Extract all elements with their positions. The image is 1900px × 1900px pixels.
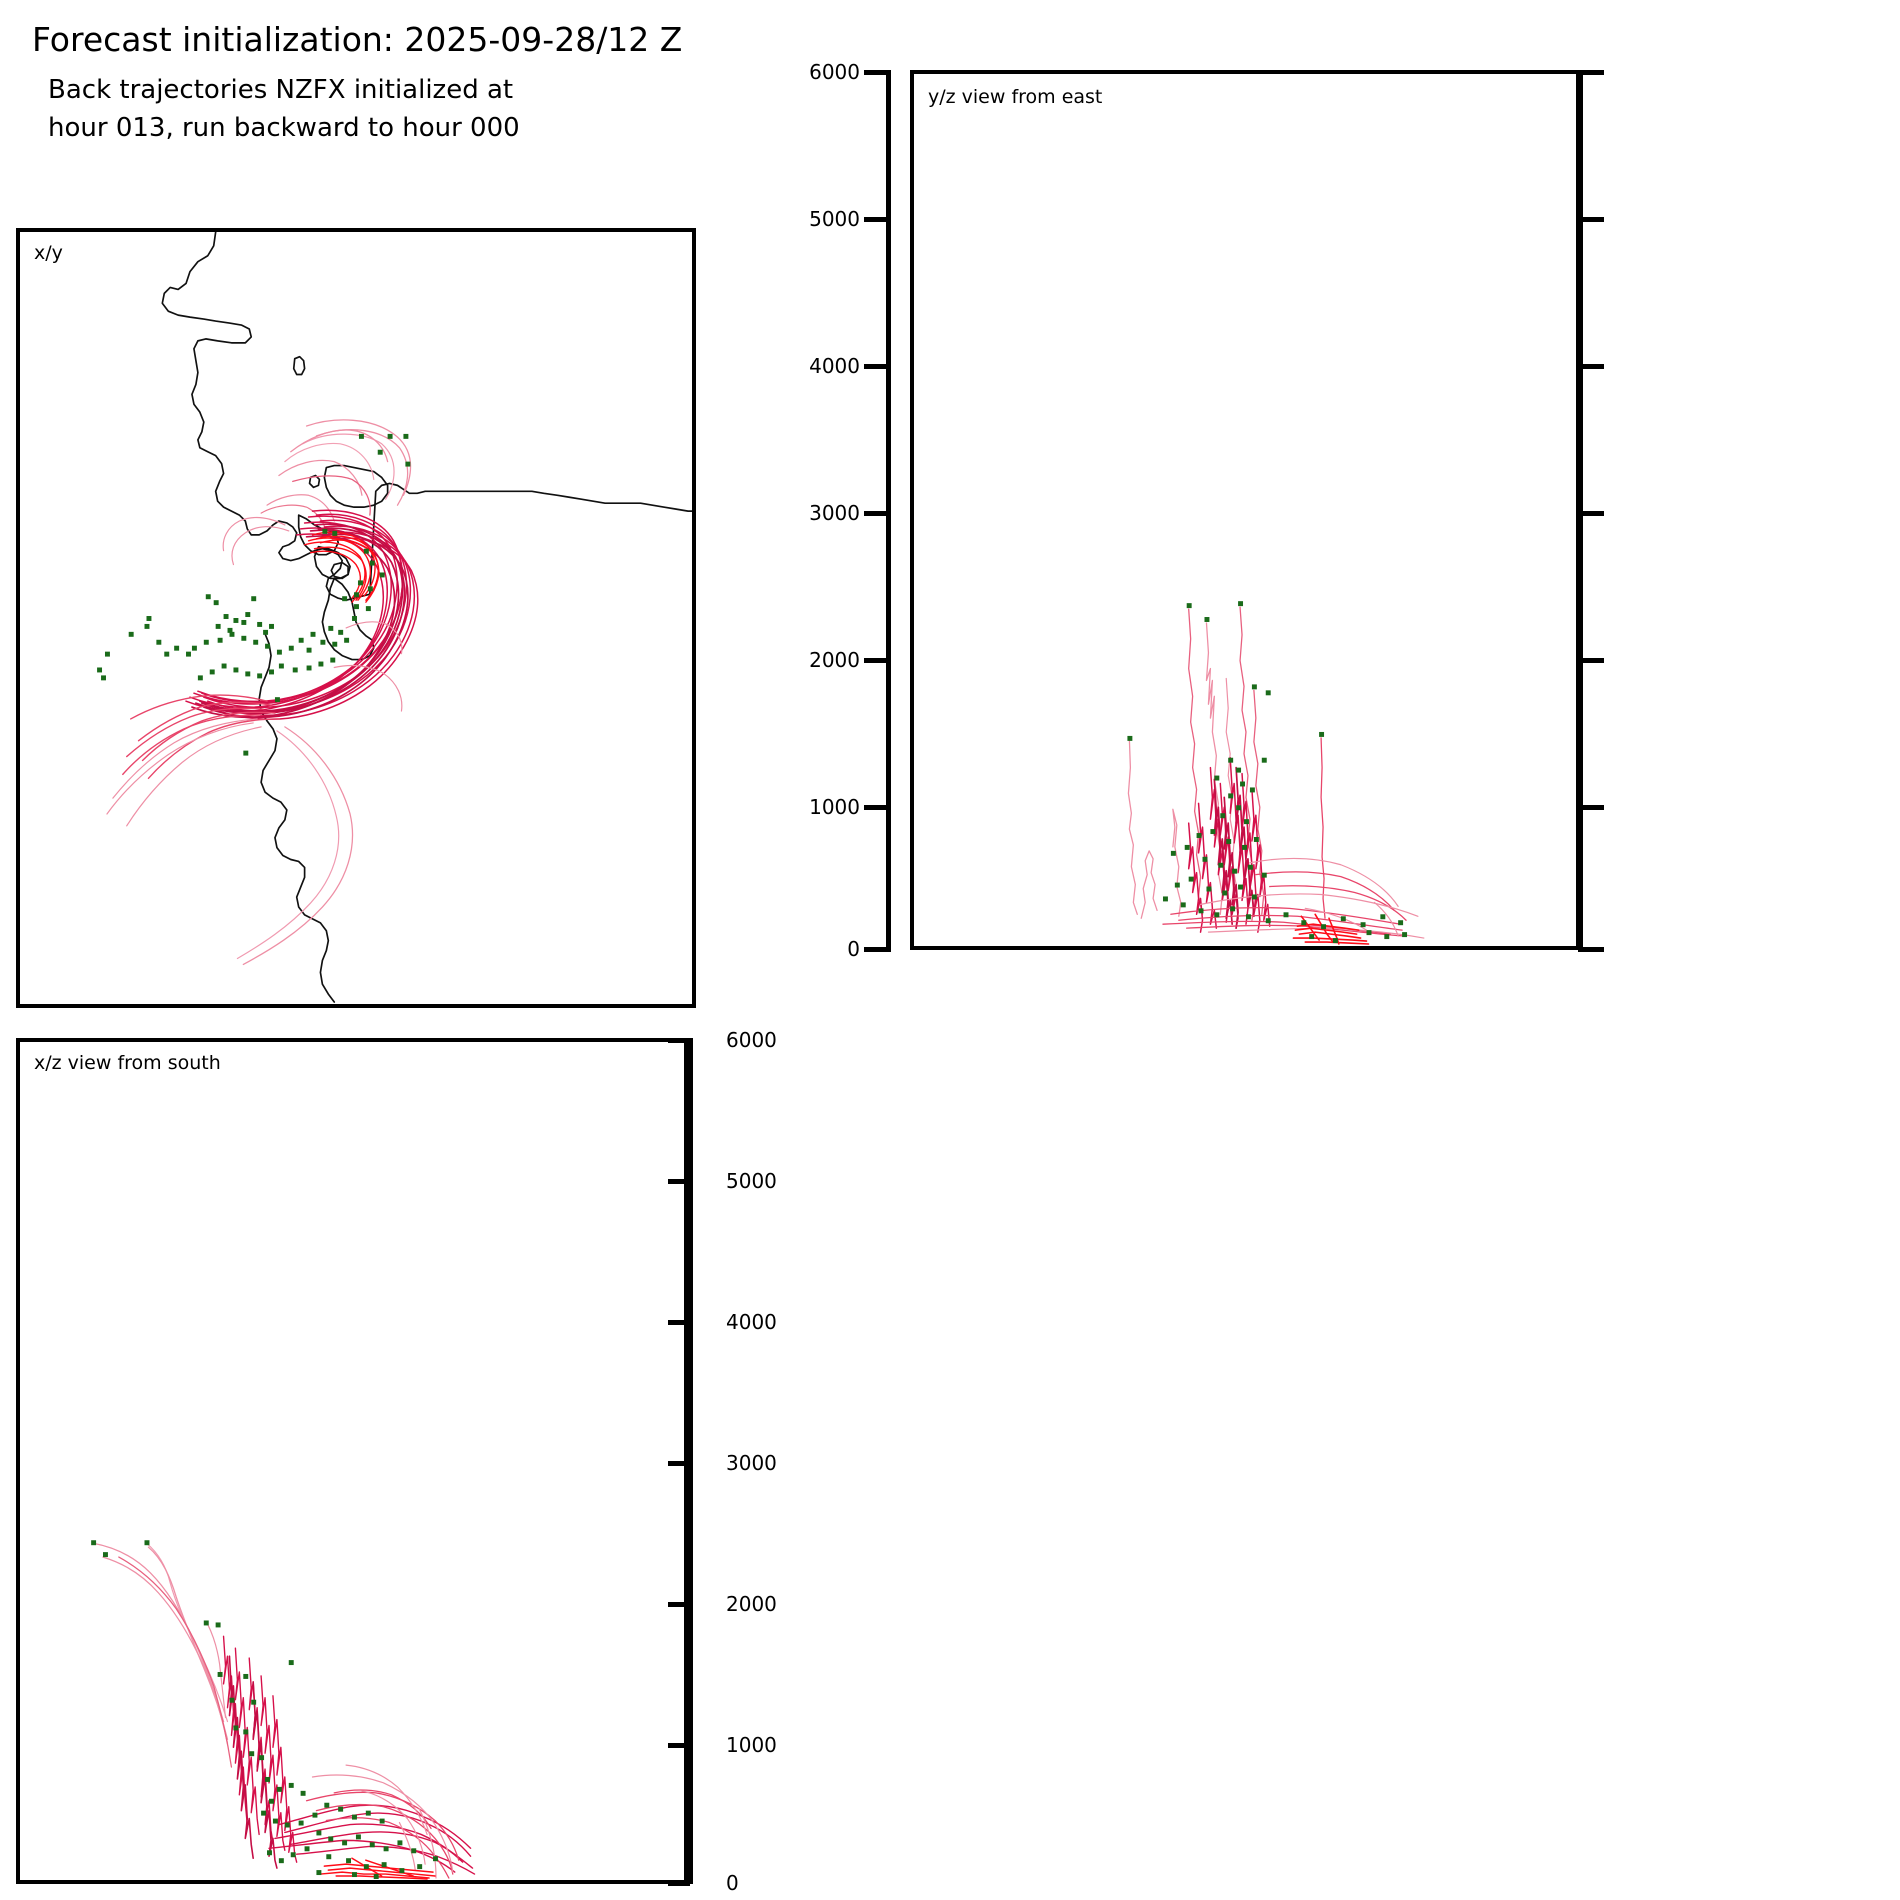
- xz-tick-5000: [668, 1179, 690, 1184]
- coastline-group: [162, 232, 692, 1002]
- yz-tick-4000: [864, 364, 886, 369]
- panel-xy: x/y: [16, 228, 696, 1008]
- xz-endpoint-markers: [91, 1540, 438, 1879]
- panel-yz: y/z view from east: [910, 70, 1580, 950]
- yz-right-tick-0: [1582, 947, 1604, 952]
- coastline-islet-mid: [331, 563, 348, 579]
- yz-tick-label-0: 0: [847, 937, 860, 961]
- xy-plot-svg: [20, 232, 692, 1004]
- xz-tick-label-4000: 4000: [726, 1310, 777, 1334]
- yz-tick-5000: [864, 217, 886, 222]
- xz-tick-label-3000: 3000: [726, 1451, 777, 1475]
- yz-right-tick-6000: [1582, 70, 1604, 75]
- yz-trajectory-group: [1128, 607, 1423, 944]
- yz-tick-1000: [864, 805, 886, 810]
- coastline-peninsula-north: [324, 466, 387, 508]
- yz-tick-label-4000: 4000: [809, 354, 860, 378]
- xz-tick-4000: [668, 1320, 690, 1325]
- yz-tick-label-2000: 2000: [809, 648, 860, 672]
- panel-label-xy: x/y: [34, 242, 63, 264]
- yz-tick-2000: [864, 658, 886, 663]
- xz-tick-label-6000: 6000: [726, 1028, 777, 1052]
- figure-canvas: Forecast initialization: 2025-09-28/12 Z…: [0, 0, 1900, 1900]
- yz-right-tick-2000: [1582, 658, 1604, 663]
- trajectory-group: [107, 420, 418, 964]
- yz-axis-spine: [886, 70, 891, 952]
- panel-label-yz: y/z view from east: [928, 86, 1102, 108]
- xz-tick-3000: [668, 1461, 690, 1466]
- xz-tick-label-5000: 5000: [726, 1169, 777, 1193]
- yz-axis-left: 6000 5000 4000 3000 2000 1000 0: [886, 70, 890, 952]
- yz-right-tick-1000: [1582, 805, 1604, 810]
- panel-xz: x/z view from south: [16, 1038, 688, 1884]
- coastline-south-arm: [322, 578, 373, 659]
- xz-tick-label-1000: 1000: [726, 1733, 777, 1757]
- yz-tick-6000: [864, 70, 886, 75]
- page-subtitle-line2: hour 013, run backward to hour 000: [48, 110, 520, 147]
- yz-tick-label-5000: 5000: [809, 207, 860, 231]
- yz-tick-0: [864, 947, 886, 952]
- page-subtitle-line1: Back trajectories NZFX initialized at: [48, 72, 513, 109]
- yz-tick-label-6000: 6000: [809, 60, 860, 84]
- yz-plot-svg: [914, 74, 1576, 946]
- yz-axis-right: [1578, 70, 1582, 952]
- xz-tick-6000: [668, 1038, 690, 1043]
- yz-right-tick-4000: [1582, 364, 1604, 369]
- yz-tick-label-3000: 3000: [809, 501, 860, 525]
- yz-tick-3000: [864, 511, 886, 516]
- yz-endpoint-markers: [1127, 601, 1407, 943]
- xz-tick-label-0: 0: [726, 1871, 739, 1895]
- coastline-main: [162, 232, 692, 600]
- yz-tick-label-1000: 1000: [809, 795, 860, 819]
- xz-tick-1000: [668, 1743, 690, 1748]
- yz-right-tick-3000: [1582, 511, 1604, 516]
- xz-tick-2000: [668, 1602, 690, 1607]
- xz-trajectory-group: [93, 1543, 474, 1879]
- xz-tick-label-2000: 2000: [726, 1592, 777, 1616]
- xz-tick-0: [668, 1881, 690, 1886]
- yz-right-tick-5000: [1582, 217, 1604, 222]
- page-title: Forecast initialization: 2025-09-28/12 Z: [32, 20, 682, 60]
- xz-plot-svg: [20, 1042, 684, 1880]
- panel-label-xz: x/z view from south: [34, 1052, 221, 1074]
- xz-axis-right: 6000 5000 4000 3000 2000 1000 0: [688, 1038, 692, 1884]
- coastline-islet-small: [294, 357, 305, 375]
